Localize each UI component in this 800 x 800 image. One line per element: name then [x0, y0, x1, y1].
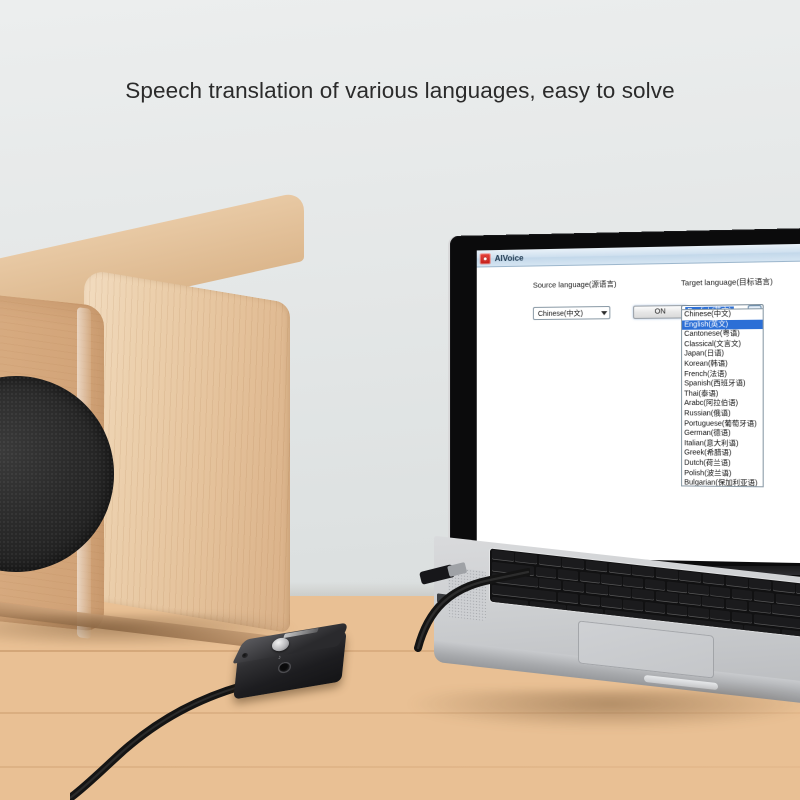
source-language-row: Chinese(中文) ON [533, 305, 687, 320]
dropdown-option[interactable]: Greek(希腊语) [682, 449, 763, 459]
wooden-bluetooth-speaker [0, 264, 304, 650]
dropdown-option[interactable]: Bulgarian(保加利亚语) [682, 478, 763, 487]
source-language-select[interactable]: Chinese(中文) [533, 306, 610, 320]
dropdown-option[interactable]: Korean(韩语) [682, 359, 763, 369]
app-title: AIVoice [495, 253, 524, 263]
source-language-value: Chinese(中文) [538, 308, 583, 319]
dropdown-option[interactable]: Thai(泰语) [682, 389, 763, 399]
page-title: Speech translation of various languages,… [0, 78, 800, 104]
dropdown-option[interactable]: French(法语) [682, 369, 763, 379]
usb-sound-card-adapter: ♪ [228, 624, 378, 720]
dropdown-option[interactable]: Arabc(阿拉伯语) [682, 399, 763, 409]
source-language-group: Source language(源语言) Chinese(中文) ON [533, 278, 687, 320]
target-language-dropdown[interactable]: Chinese(中文)English(英文)Cantonese(粤语)Class… [681, 308, 764, 487]
laptop-screen: AIVoice × Source language(源语言) Chinese(中… [477, 243, 800, 565]
dropdown-option[interactable]: Japan(日语) [682, 349, 763, 359]
chevron-down-icon [601, 311, 607, 315]
dropdown-option[interactable]: Dutch(荷兰语) [682, 459, 763, 470]
dropdown-option[interactable]: Italian(意大利语) [682, 439, 763, 449]
aivoice-app-window: AIVoice × Source language(源语言) Chinese(中… [477, 243, 800, 565]
dropdown-option[interactable]: German(德语) [682, 429, 763, 439]
product-photo-scene: Speech translation of various languages,… [0, 0, 800, 800]
aivoice-app-icon [480, 253, 491, 264]
dropdown-option[interactable]: Portuguese(葡萄牙语) [682, 419, 763, 429]
toggle-on-button[interactable]: ON [633, 305, 687, 319]
speaker-side-panel [84, 269, 290, 633]
dropdown-option[interactable]: Russian(俄语) [682, 409, 763, 419]
headphone-icon: ♪ [278, 655, 281, 661]
app-content-area: Source language(源语言) Chinese(中文) ON Targ… [477, 261, 800, 564]
dropdown-option[interactable]: Cantonese(粤语) [682, 329, 763, 340]
laptop-lid: AIVoice × Source language(源语言) Chinese(中… [450, 227, 800, 581]
source-language-label: Source language(源语言) [533, 278, 687, 291]
dropdown-option[interactable]: Classical(文言文) [682, 339, 763, 350]
laptop-drop-shadow [410, 690, 800, 730]
usb-connector-plug [418, 558, 478, 594]
dropdown-option[interactable]: Spanish(西班牙语) [682, 379, 763, 389]
target-language-label: Target language(目标语言) [681, 277, 773, 289]
